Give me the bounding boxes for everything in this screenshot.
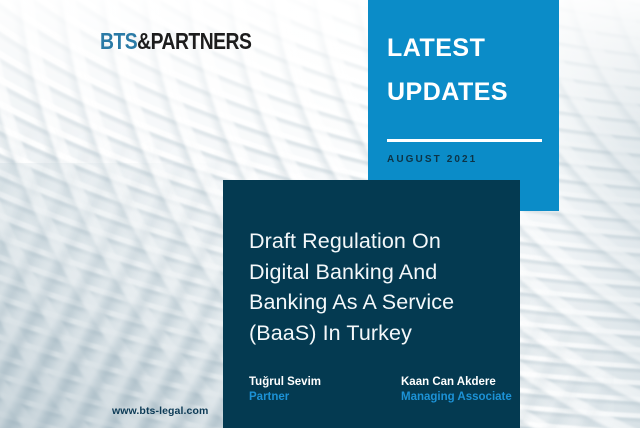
article-card: Draft Regulation On Digital Banking And … bbox=[223, 180, 520, 428]
author-entry: Kaan Can Akdere Managing Associate bbox=[401, 375, 523, 406]
article-title: Draft Regulation On Digital Banking And … bbox=[249, 226, 494, 348]
author-name: Tuğrul Sevim bbox=[249, 375, 371, 391]
logo-text-partners: PARTNERS bbox=[151, 28, 252, 54]
author-role: Partner bbox=[249, 390, 371, 406]
logo-ampersand: & bbox=[137, 28, 150, 54]
banner-heading-line-2: UPDATES bbox=[387, 80, 540, 105]
banner-issue-date: AUGUST 2021 bbox=[387, 154, 540, 165]
author-entry: Tuğrul Sevim Partner bbox=[249, 375, 371, 406]
banner-heading-line-1: LATEST bbox=[387, 36, 540, 61]
banner-divider-rule bbox=[387, 139, 542, 142]
website-url[interactable]: www.bts-legal.com bbox=[112, 405, 208, 417]
author-list: Tuğrul Sevim Partner Kaan Can Akdere Man… bbox=[249, 375, 523, 406]
author-role: Managing Associate bbox=[401, 390, 523, 406]
logo-text-bts: BTS bbox=[100, 28, 137, 54]
author-name: Kaan Can Akdere bbox=[401, 375, 523, 391]
newsletter-cover: BTS&PARTNERS LATEST UPDATES AUGUST 2021 … bbox=[0, 0, 640, 428]
brand-logo: BTS&PARTNERS bbox=[100, 30, 251, 53]
